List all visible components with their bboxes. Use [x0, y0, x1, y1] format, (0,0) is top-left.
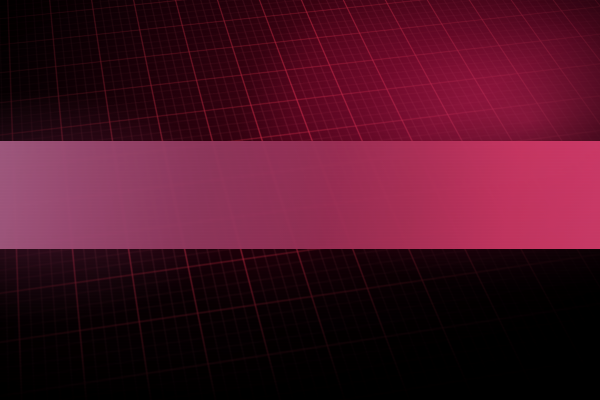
scanline-noise	[0, 0, 600, 400]
banner-image	[0, 0, 600, 400]
